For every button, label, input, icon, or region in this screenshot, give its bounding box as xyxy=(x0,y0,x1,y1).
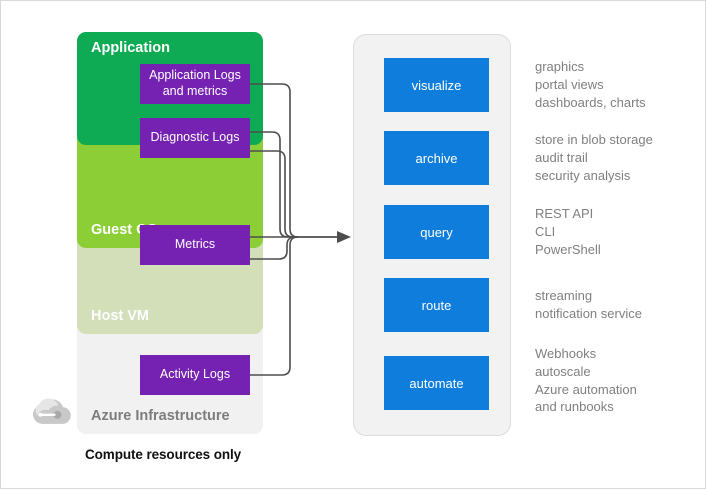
layer-host-vm-label: Host VM xyxy=(91,308,149,324)
cloud-icon xyxy=(29,397,77,431)
source-box-application-logs-label: Application Logs and metrics xyxy=(144,68,246,99)
source-box-metrics-label: Metrics xyxy=(175,237,215,253)
source-box-application-logs[interactable]: Application Logs and metrics xyxy=(140,64,250,104)
action-box-automate[interactable]: automate xyxy=(384,356,489,410)
action-notes-visualize: graphics portal views dashboards, charts xyxy=(535,58,646,111)
connector-arrowhead xyxy=(337,231,351,243)
action-box-query[interactable]: query xyxy=(384,205,489,259)
action-box-query-label: query xyxy=(420,225,453,240)
source-box-metrics[interactable]: Metrics xyxy=(140,225,250,265)
action-box-archive[interactable]: archive xyxy=(384,131,489,185)
action-box-route[interactable]: route xyxy=(384,278,489,332)
source-box-diagnostic-logs[interactable]: Diagnostic Logs xyxy=(140,118,250,158)
action-box-archive-label: archive xyxy=(416,151,458,166)
source-box-diagnostic-logs-label: Diagnostic Logs xyxy=(151,130,240,146)
source-box-activity-logs[interactable]: Activity Logs xyxy=(140,355,250,395)
action-box-visualize-label: visualize xyxy=(412,78,462,93)
diagram-canvas: Azure Infrastructure Host VM Guest OS Ap… xyxy=(1,1,706,490)
layer-application-label: Application xyxy=(91,40,170,56)
action-box-route-label: route xyxy=(422,298,452,313)
action-box-automate-label: automate xyxy=(409,376,463,391)
source-box-activity-logs-label: Activity Logs xyxy=(160,367,230,383)
layer-azure-infrastructure-label: Azure Infrastructure xyxy=(91,408,230,424)
action-notes-automate: Webhooks autoscale Azure automation and … xyxy=(535,345,637,416)
action-notes-archive: store in blob storage audit trail securi… xyxy=(535,131,653,184)
action-notes-route: streaming notification service xyxy=(535,287,642,323)
action-notes-query: REST API CLI PowerShell xyxy=(535,205,601,258)
action-box-visualize[interactable]: visualize xyxy=(384,58,489,112)
compute-resources-caption: Compute resources only xyxy=(85,447,241,462)
